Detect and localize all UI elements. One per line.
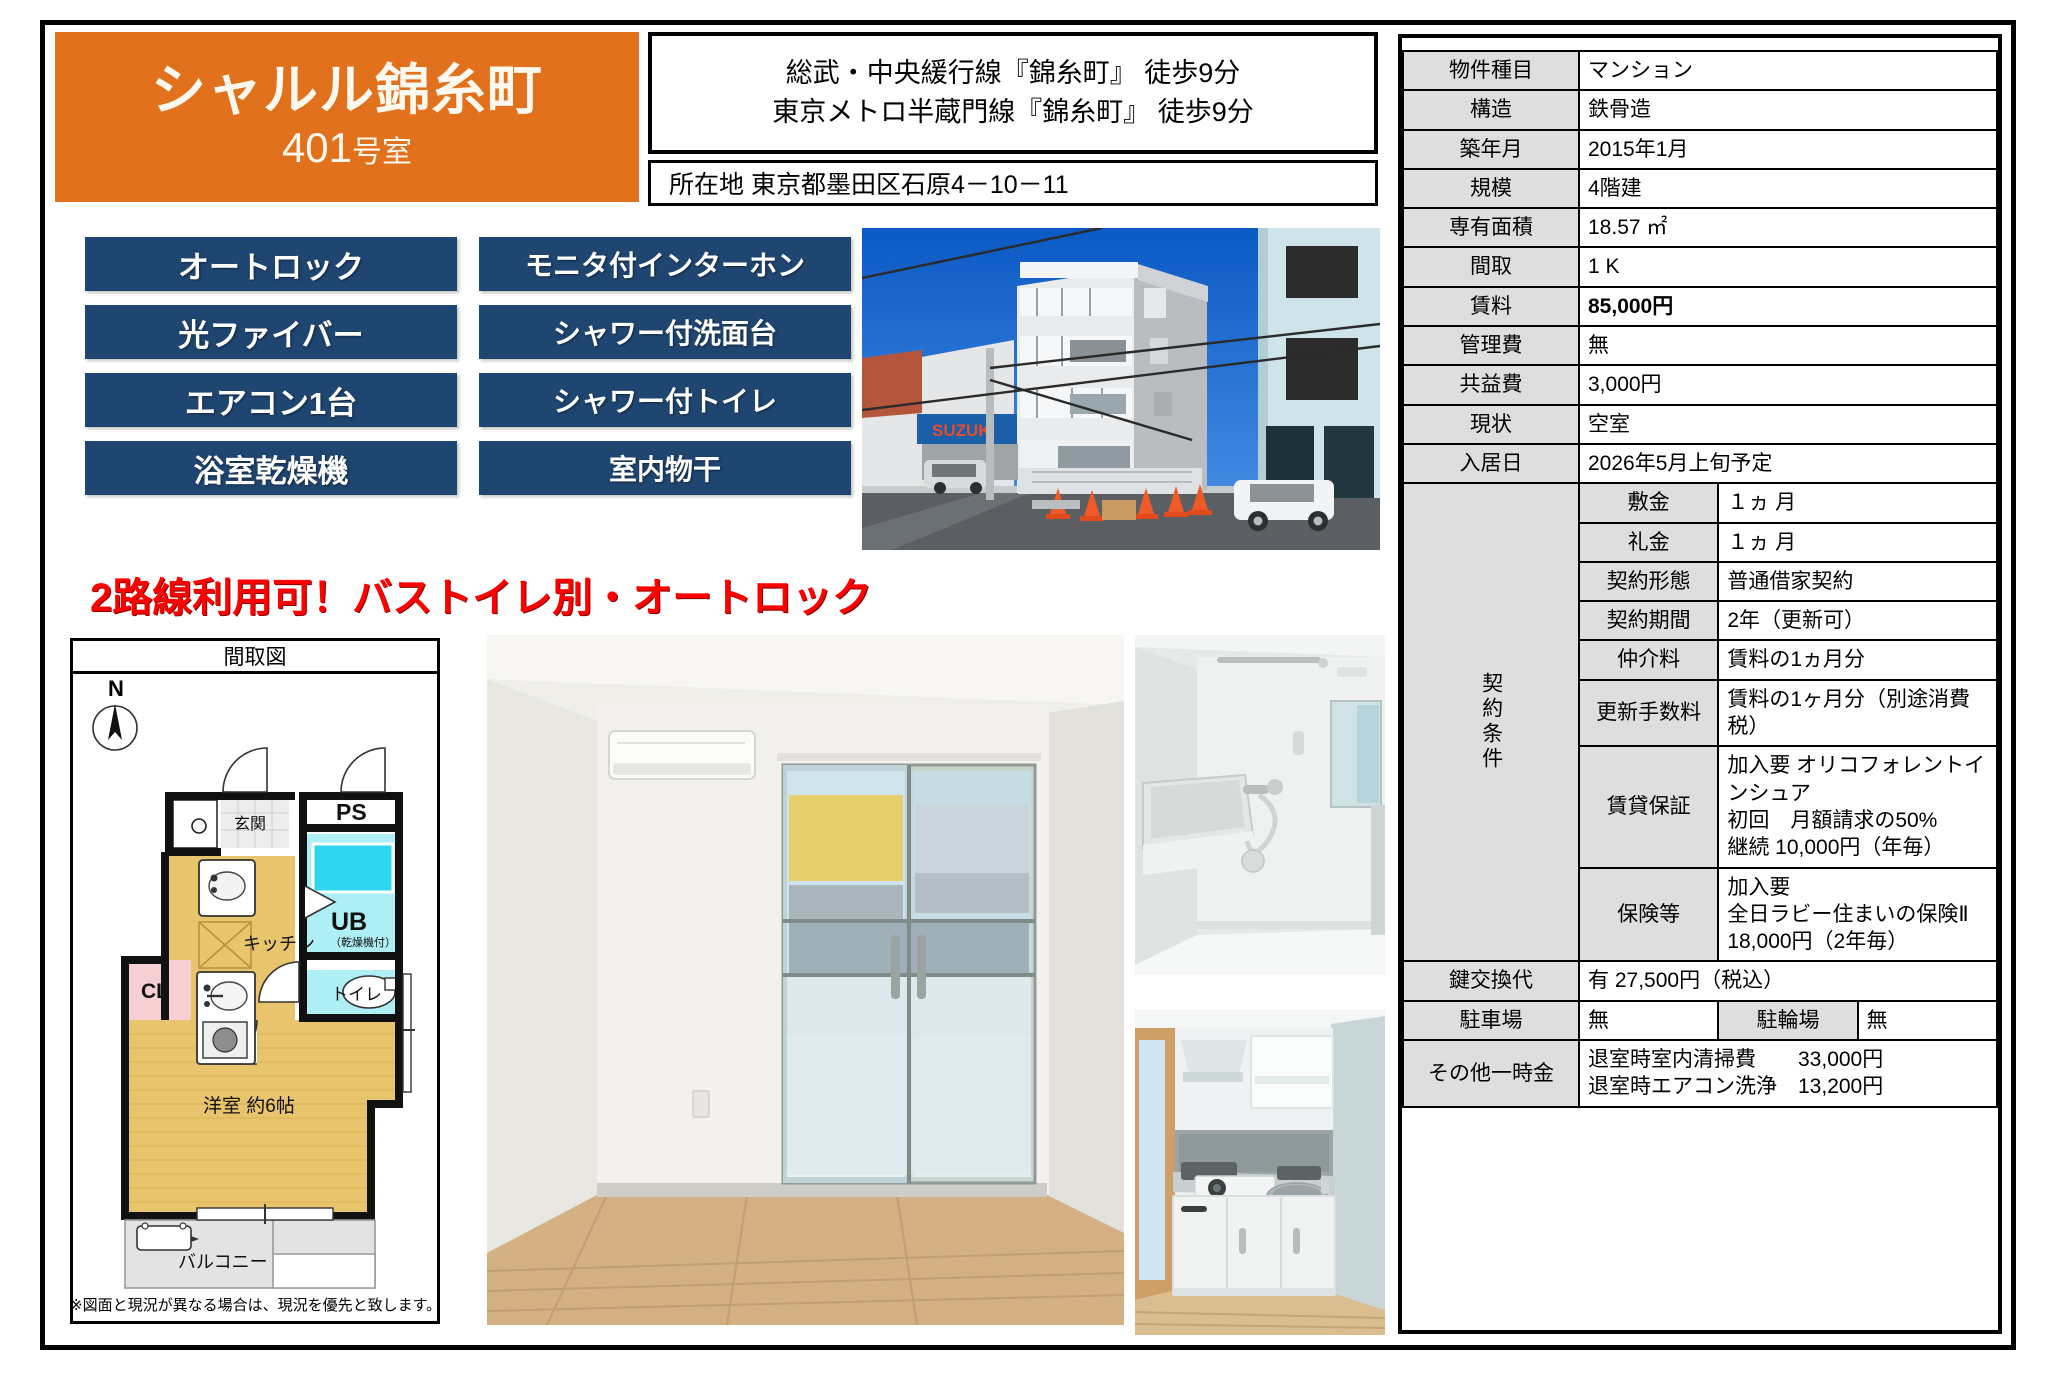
insurance-value: 加入要 全日ラビー住まいの保険Ⅱ 18,000円（2年毎）	[1718, 868, 1997, 962]
spec-value: 鉄骨造	[1579, 90, 1997, 129]
fp-label-ub: UB	[331, 908, 367, 936]
bathroom-photo-image	[1135, 635, 1385, 975]
spec-key: 現状	[1403, 405, 1579, 444]
feature-badge-intercom: モニタ付インターホン	[479, 237, 851, 291]
parking-label: 駐車場	[1403, 1001, 1579, 1040]
fp-label-room: 洋室 約6帖	[203, 1095, 295, 1117]
room-number-suffix: 号室	[352, 136, 412, 169]
feature-badge-washbasin: シャワー付洗面台	[479, 305, 851, 359]
table-row: 管理費無	[1403, 326, 1997, 365]
spec-value: 1 K	[1579, 247, 1997, 286]
feature-badge-autolock: オートロック	[85, 237, 457, 291]
spec-key: 敷金	[1579, 483, 1718, 522]
table-row: 築年月2015年1月	[1403, 130, 1997, 169]
badge-row: エアコン1台 シャワー付トイレ	[85, 373, 855, 427]
table-row-parking: 駐車場 無 駐輪場 無	[1403, 1001, 1997, 1040]
exterior-photo: SUZUKI	[862, 228, 1380, 550]
feature-badge-bath-dryer: 浴室乾燥機	[85, 441, 457, 495]
station-line-2: 東京メトロ半蔵門線『錦糸町』 徒歩9分	[772, 93, 1254, 132]
spec-value: 普通借家契約	[1718, 562, 1997, 601]
spec-value: １ヵ 月	[1718, 523, 1997, 562]
spec-value: 無	[1579, 326, 1997, 365]
spec-key: 賃貸保証	[1579, 746, 1718, 867]
badge-row: 浴室乾燥機 室内物干	[85, 441, 855, 495]
spec-key: 共益費	[1403, 365, 1579, 404]
spec-value: 空室	[1579, 405, 1997, 444]
fp-label-ps: PS	[336, 799, 367, 825]
spec-key: その他一時金	[1403, 1040, 1579, 1107]
spec-value: 18.57 ㎡	[1579, 208, 1997, 247]
table-row: 間取1 K	[1403, 247, 1997, 286]
spec-key: 規模	[1403, 169, 1579, 208]
table-row: 物件種目マンション	[1403, 51, 1997, 90]
spec-key: 保険等	[1579, 868, 1718, 962]
room-number: 401号室	[282, 124, 412, 172]
spec-table: 物件種目マンション 構造鉄骨造 築年月2015年1月 規模4階建 専有面積18.…	[1398, 34, 2002, 1334]
spec-value: 賃料の1ヵ月分	[1718, 640, 1997, 679]
spec-value: マンション	[1579, 51, 1997, 90]
room-photo-image	[487, 635, 1124, 1325]
spec-value: 3,000円	[1579, 365, 1997, 404]
station-line-1: 総武・中央緩行線『錦糸町』 徒歩9分	[786, 54, 1241, 93]
spec-key: 更新手数料	[1579, 680, 1718, 747]
table-row: 鍵交換代有 27,500円（税込）	[1403, 961, 1997, 1000]
address-text: 所在地 東京都墨田区石原4－10－11	[651, 165, 1069, 201]
feature-badge-grid: オートロック モニタ付インターホン 光ファイバー シャワー付洗面台 エアコン1台…	[85, 237, 855, 509]
fp-label-closet: CL	[141, 980, 169, 1003]
feature-badge-aircon: エアコン1台	[85, 373, 457, 427]
badge-row: オートロック モニタ付インターホン	[85, 237, 855, 291]
floorplan-svg: N	[73, 674, 437, 1318]
spec-value: 有 27,500円（税込）	[1579, 961, 1997, 1000]
room-photo	[487, 635, 1124, 1325]
spec-table-grid: 物件種目マンション 構造鉄骨造 築年月2015年1月 規模4階建 専有面積18.…	[1402, 50, 1998, 1108]
exterior-photo-image: SUZUKI	[862, 228, 1380, 550]
property-flyer: シャルル錦糸町 401号室 総武・中央緩行線『錦糸町』 徒歩9分 東京メトロ半蔵…	[0, 0, 2056, 1373]
spec-key: 礼金	[1579, 523, 1718, 562]
svg-text:SUZUKI: SUZUKI	[932, 421, 995, 440]
table-row: 規模4階建	[1403, 169, 1997, 208]
kitchen-photo	[1135, 1010, 1385, 1335]
spec-key-rent: 賃料	[1403, 287, 1579, 326]
badge-row: 光ファイバー シャワー付洗面台	[85, 305, 855, 359]
station-access-box: 総武・中央緩行線『錦糸町』 徒歩9分 東京メトロ半蔵門線『錦糸町』 徒歩9分	[648, 32, 1378, 154]
spec-key: 入居日	[1403, 444, 1579, 483]
spec-value: １ヵ 月	[1718, 483, 1997, 522]
table-row: 契約条件敷金１ヵ 月	[1403, 483, 1997, 522]
contract-conditions-label: 契約条件	[1403, 483, 1579, 961]
feature-badge-shower-toilet: シャワー付トイレ	[479, 373, 851, 427]
spec-key: 仲介料	[1579, 640, 1718, 679]
rent-guarantee-value: 加入要 オリコフォレントインシュア 初回 月額請求の50% 継続 10,000円…	[1718, 746, 1997, 867]
rent-amount: 85,000円	[1579, 287, 1997, 326]
room-number-value: 401	[282, 124, 352, 171]
spec-key: 間取	[1403, 247, 1579, 286]
spec-key: 専有面積	[1403, 208, 1579, 247]
spec-value: 2年（更新可）	[1718, 601, 1997, 640]
table-row: 共益費3,000円	[1403, 365, 1997, 404]
fp-label-ub-sub: （乾燥機付）	[330, 935, 396, 949]
spec-value: 2026年5月上旬予定	[1579, 444, 1997, 483]
floorplan-note: ※図面と現況が異なる場合は、現況を優先と致します。	[70, 1294, 441, 1315]
address-box: 所在地 東京都墨田区石原4－10－11	[648, 160, 1378, 206]
fp-label-entrance: 玄関	[234, 815, 266, 833]
parking-value: 無	[1579, 1001, 1718, 1040]
spec-key: 契約期間	[1579, 601, 1718, 640]
feature-badge-indoor-drying: 室内物干	[479, 441, 851, 495]
fp-label-kitchen: キッチン	[243, 934, 315, 954]
other-fees-value: 退室時室内清掃費 33,000円 退室時エアコン洗浄 13,200円	[1579, 1040, 1997, 1107]
floorplan-drawing: N	[70, 674, 440, 1324]
spec-key: 契約形態	[1579, 562, 1718, 601]
svg-text:N: N	[108, 676, 124, 701]
table-row: 現状空室	[1403, 405, 1997, 444]
spec-key: 管理費	[1403, 326, 1579, 365]
spec-value: 賃料の1ヶ月分（別途消費税）	[1718, 680, 1997, 747]
kitchen-photo-image	[1135, 1010, 1385, 1335]
fp-label-balcony: バルコニー	[178, 1252, 268, 1272]
spec-key: 物件種目	[1403, 51, 1579, 90]
fp-label-toilet: トイレ	[331, 985, 382, 1004]
spec-key: 築年月	[1403, 130, 1579, 169]
bicycle-parking-label: 駐輪場	[1718, 1001, 1857, 1040]
floorplan-title: 間取図	[70, 638, 440, 674]
table-row-rent: 賃料85,000円	[1403, 287, 1997, 326]
spec-value: 4階建	[1579, 169, 1997, 208]
feature-badge-fiber: 光ファイバー	[85, 305, 457, 359]
building-title-box: シャルル錦糸町 401号室	[55, 32, 639, 202]
catchphrase: 2路線利用可！バストイレ別・オートロック	[90, 565, 1020, 623]
spec-value: 2015年1月	[1579, 130, 1997, 169]
floorplan: 間取図 N	[70, 638, 440, 1338]
table-row: 構造鉄骨造	[1403, 90, 1997, 129]
bathroom-photo	[1135, 635, 1385, 975]
spec-key: 構造	[1403, 90, 1579, 129]
table-row: 専有面積18.57 ㎡	[1403, 208, 1997, 247]
building-name: シャルル錦糸町	[151, 62, 543, 120]
table-row: その他一時金退室時室内清掃費 33,000円 退室時エアコン洗浄 13,200円	[1403, 1040, 1997, 1107]
spec-key: 鍵交換代	[1403, 961, 1579, 1000]
table-row: 入居日2026年5月上旬予定	[1403, 444, 1997, 483]
bicycle-parking-value: 無	[1858, 1001, 1997, 1040]
